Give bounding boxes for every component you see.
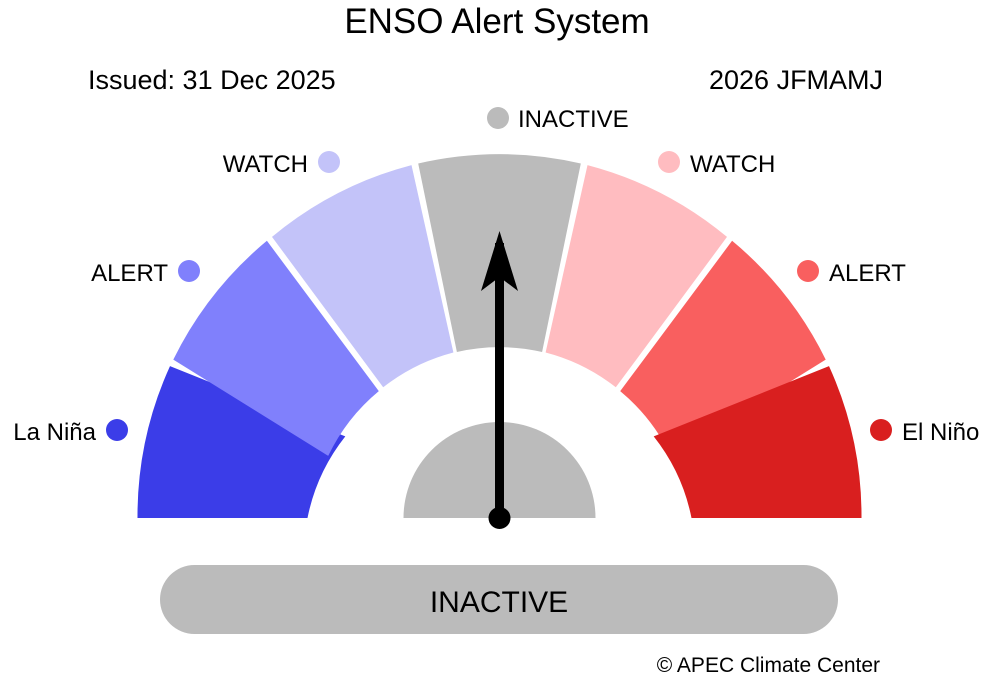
page-title: ENSO Alert System (344, 2, 649, 41)
copyright-footer: © APEC Climate Center (657, 654, 880, 677)
gauge-canvas: ENSO Alert System Issued: 31 Dec 2025 20… (0, 0, 989, 679)
legend-label-watch-left: WATCH (223, 151, 308, 178)
legend-label-alert-right: ALERT (829, 260, 906, 287)
status-banner-label: INACTIVE (430, 586, 568, 619)
legend-dot-watch-right-icon (658, 151, 680, 173)
legend-dot-elnino-icon (870, 419, 892, 441)
legend-dot-lanina-icon (106, 419, 128, 441)
legend-label-lanina: La Niña (13, 419, 96, 446)
legend-label-inactive: INACTIVE (518, 106, 629, 133)
needle-pivot (489, 507, 511, 529)
issued-date-label: Issued: 31 Dec 2025 (88, 65, 336, 95)
legend-label-watch-right: WATCH (690, 151, 775, 178)
forecast-period-label: 2026 JFMAMJ (709, 65, 883, 95)
legend-dot-watch-left-icon (318, 151, 340, 173)
legend-label-alert-left: ALERT (91, 260, 168, 287)
legend-label-elnino: El Niño (902, 419, 979, 446)
legend-dot-inactive-icon (487, 107, 509, 129)
legend-dot-alert-right-icon (797, 260, 819, 282)
enso-alert-gauge-figure: ENSO Alert System Issued: 31 Dec 2025 20… (0, 0, 989, 679)
legend-dot-alert-left-icon (178, 260, 200, 282)
status-banner[interactable]: INACTIVE (160, 565, 838, 634)
